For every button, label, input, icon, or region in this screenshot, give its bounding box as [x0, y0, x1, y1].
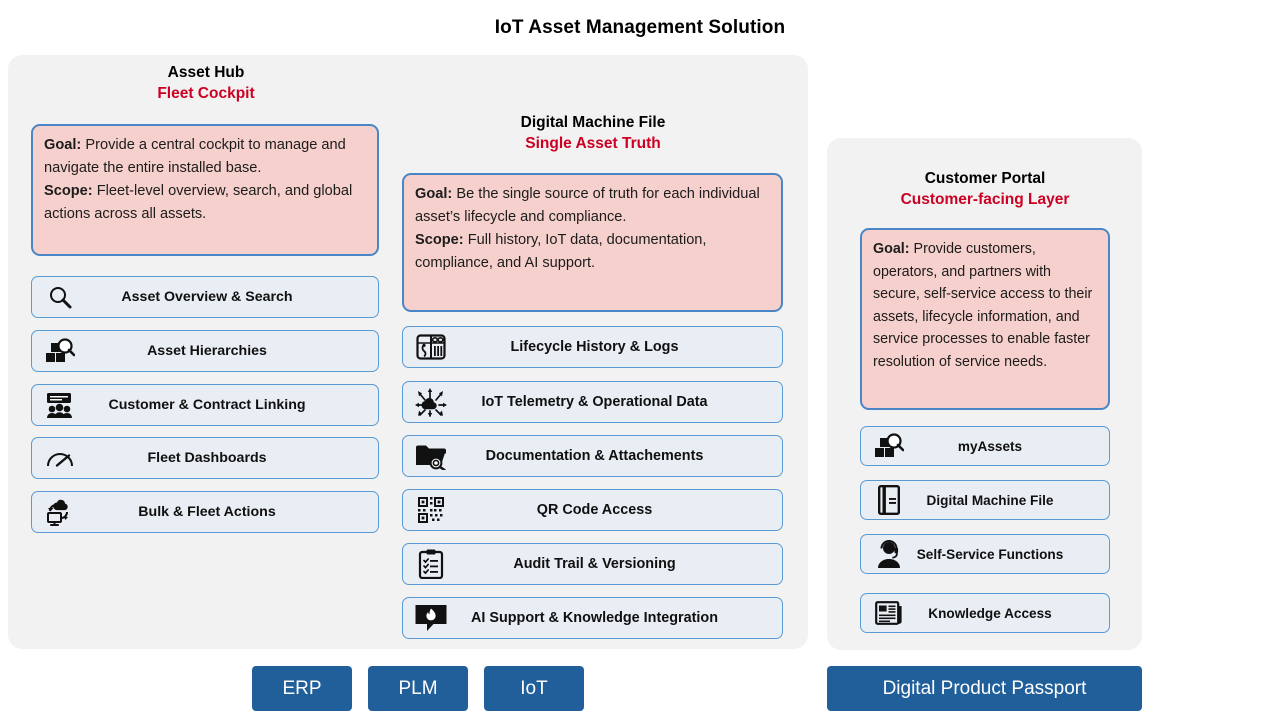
feature-row-knowledge-access[interactable]: Knowledge Access [860, 593, 1110, 633]
customer-portal-goal-box: Goal: Provide customers, operators, and … [860, 228, 1110, 410]
digital-machine-file-heading-main: Digital Machine File [402, 113, 784, 133]
digital-machine-file-scope-label: Scope: [415, 232, 464, 248]
feature-row-self-service-functions[interactable]: Self-Service Functions [860, 534, 1110, 574]
people-board-icon [38, 385, 82, 425]
feature-row-customer-contract-linking[interactable]: Customer & Contract Linking [31, 384, 379, 426]
feature-label: Documentation & Attachements [453, 448, 782, 464]
feature-label: Customer & Contract Linking [82, 397, 378, 413]
customer-portal-goal-text: Provide customers, operators, and partne… [873, 241, 1092, 370]
newspaper-icon [867, 594, 911, 632]
feature-row-qr-code-access[interactable]: QR Code Access [402, 489, 783, 531]
asset-hub-goal-label: Goal: [44, 137, 81, 153]
digital-machine-file-goal-label: Goal: [415, 186, 452, 202]
boxes-magnifier-icon [867, 427, 911, 465]
feature-row-audit-trail-versioning[interactable]: Audit Trail & Versioning [402, 543, 783, 585]
feature-row-iot-telemetry[interactable]: IoT Telemetry & Operational Data [402, 381, 783, 423]
qr-code-icon [409, 490, 453, 530]
clipboard-checklist-icon [409, 544, 453, 584]
feature-label: Bulk & Fleet Actions [82, 504, 378, 520]
digital-machine-file-goal-text: Be the single source of truth for each i… [415, 186, 760, 225]
feature-label: Asset Hierarchies [82, 343, 378, 359]
plm-button[interactable]: PLM [368, 666, 468, 711]
erp-button[interactable]: ERP [252, 666, 352, 711]
folder-search-icon [409, 436, 453, 476]
customer-portal-heading: Customer Portal Customer-facing Layer [845, 169, 1125, 210]
page-title: IoT Asset Management Solution [0, 17, 1280, 39]
feature-label: QR Code Access [453, 502, 782, 518]
digital-machine-file-heading: Digital Machine File Single Asset Truth [402, 113, 784, 154]
feature-row-bulk-fleet-actions[interactable]: Bulk & Fleet Actions [31, 491, 379, 533]
feature-label: Fleet Dashboards [82, 450, 378, 466]
headset-agent-icon [867, 535, 911, 573]
cloud-sync-monitor-icon [38, 492, 82, 532]
feature-row-myassets[interactable]: myAssets [860, 426, 1110, 466]
asset-hub-heading-sub: Fleet Cockpit [30, 83, 382, 104]
feature-label: Knowledge Access [911, 606, 1109, 621]
asset-hub-heading: Asset Hub Fleet Cockpit [30, 63, 382, 104]
asset-hub-scope-label: Scope: [44, 183, 93, 199]
feature-label: Asset Overview & Search [82, 289, 378, 305]
digital-machine-file-goal-box: Goal: Be the single source of truth for … [402, 173, 783, 312]
feature-label: Digital Machine File [911, 493, 1109, 508]
binder-icon [867, 481, 911, 519]
boxes-magnifier-icon [38, 331, 82, 371]
iot-cloud-nodes-icon [409, 382, 453, 422]
feature-row-documentation-attachements[interactable]: Documentation & Attachements [402, 435, 783, 477]
digital-machine-file-heading-sub: Single Asset Truth [402, 133, 784, 154]
asset-hub-goal-box: Goal: Provide a central cockpit to manag… [31, 124, 379, 256]
chat-flame-icon [409, 598, 453, 638]
feature-label: myAssets [911, 439, 1109, 454]
customer-portal-heading-sub: Customer-facing Layer [845, 189, 1125, 210]
gauge-icon [38, 438, 82, 478]
digital-product-passport-button[interactable]: Digital Product Passport [827, 666, 1142, 711]
feature-row-fleet-dashboards[interactable]: Fleet Dashboards [31, 437, 379, 479]
feature-row-ai-support-knowledge[interactable]: AI Support & Knowledge Integration [402, 597, 783, 639]
feature-label: Self-Service Functions [911, 547, 1109, 562]
feature-row-asset-overview-search[interactable]: Asset Overview & Search [31, 276, 379, 318]
asset-hub-heading-main: Asset Hub [30, 63, 382, 83]
feature-label: AI Support & Knowledge Integration [453, 610, 782, 626]
archive-records-icon [409, 327, 453, 367]
magnifier-icon [38, 277, 82, 317]
asset-hub-goal-text: Provide a central cockpit to manage and … [44, 137, 346, 176]
customer-portal-heading-main: Customer Portal [845, 169, 1125, 189]
feature-row-asset-hierarchies[interactable]: Asset Hierarchies [31, 330, 379, 372]
feature-row-digital-machine-file[interactable]: Digital Machine File [860, 480, 1110, 520]
feature-label: Lifecycle History & Logs [453, 339, 782, 355]
feature-row-lifecycle-history-logs[interactable]: Lifecycle History & Logs [402, 326, 783, 368]
feature-label: IoT Telemetry & Operational Data [453, 394, 782, 410]
iot-button[interactable]: IoT [484, 666, 584, 711]
feature-label: Audit Trail & Versioning [453, 556, 782, 572]
customer-portal-goal-label: Goal: [873, 241, 910, 257]
